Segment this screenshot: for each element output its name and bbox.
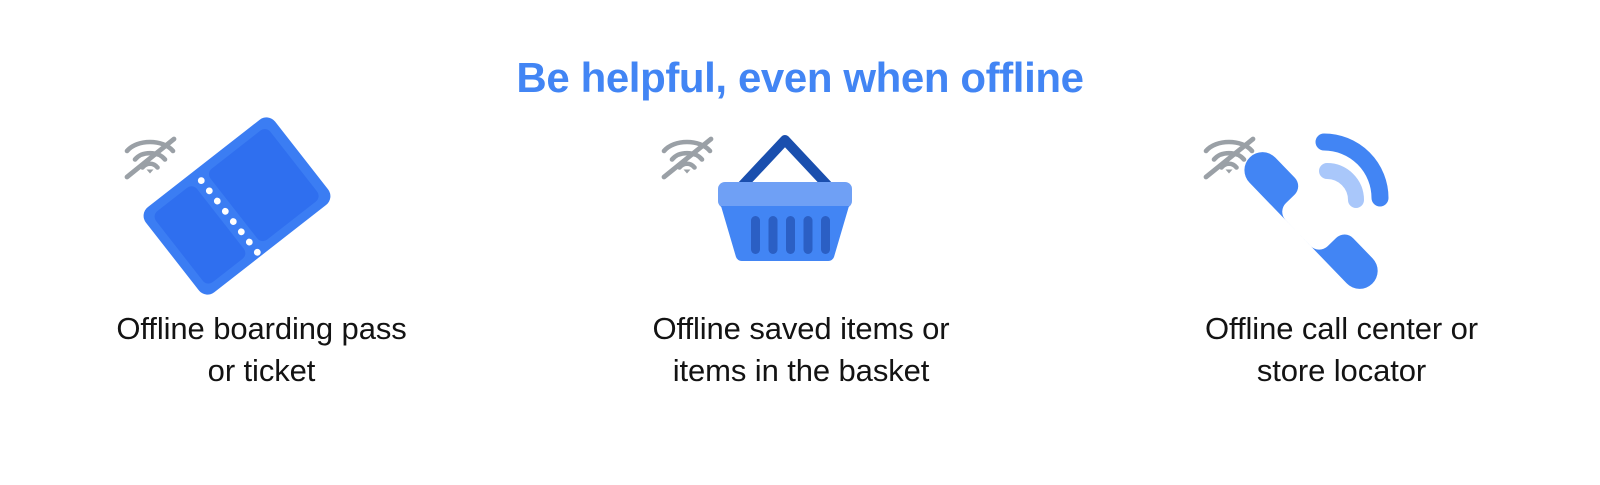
caption-line-2: or ticket (116, 350, 406, 392)
feature-item-offline-saved-items: Offline saved items or items in the bask… (534, 126, 1067, 392)
caption-line-2: store locator (1205, 350, 1478, 392)
caption-line-2: items in the basket (652, 350, 949, 392)
icon-stage-call-center (1190, 126, 1490, 286)
page-title: Be helpful, even when offline (516, 52, 1083, 104)
caption-line-1: Offline saved items or (652, 308, 949, 350)
feature-caption-boarding-pass: Offline boarding pass or ticket (116, 308, 406, 392)
phone-ringing-icon (1258, 122, 1408, 274)
feature-columns: Offline boarding pass or ticket (0, 126, 1600, 392)
wifi-off-icon (658, 132, 716, 180)
feature-caption-call-center: Offline call center or store locator (1205, 308, 1478, 392)
caption-line-1: Offline boarding pass (116, 308, 406, 350)
shopping-basket-icon (710, 126, 860, 266)
icon-stage-saved-items (648, 126, 948, 286)
feature-item-offline-boarding-pass: Offline boarding pass or ticket (0, 126, 533, 392)
feature-caption-saved-items: Offline saved items or items in the bask… (652, 308, 949, 392)
caption-line-1: Offline call center or (1205, 308, 1478, 350)
offline-features-panel: Be helpful, even when offline (0, 0, 1600, 485)
ticket-icon (153, 126, 321, 286)
icon-stage-boarding-pass (111, 126, 411, 286)
feature-item-offline-call-center: Offline call center or store locator (1067, 126, 1600, 392)
